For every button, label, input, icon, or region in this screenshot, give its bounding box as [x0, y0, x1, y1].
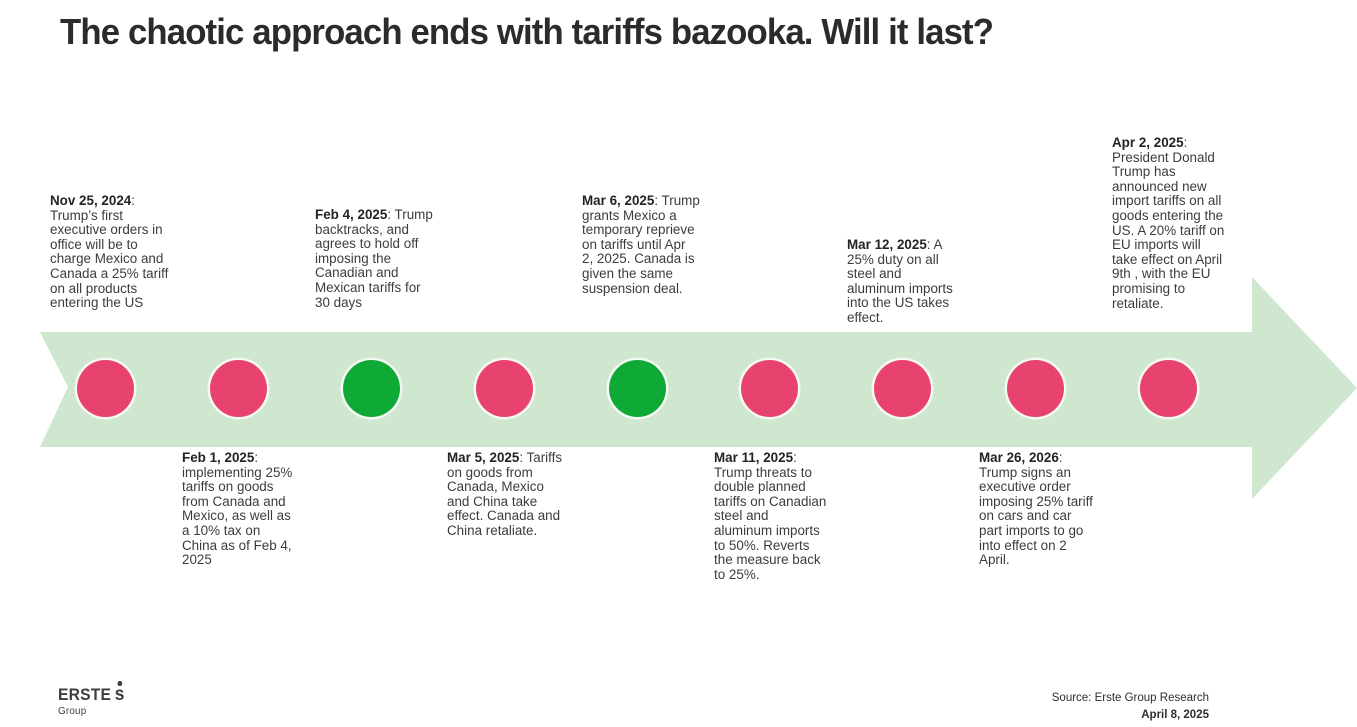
event-mar-26-2026: Mar 26, 2026: Trump signs an executive o… — [979, 451, 1096, 568]
logo-wordmark: ERSTE s — [58, 686, 187, 703]
source-text: Source: Erste Group Research — [1052, 690, 1209, 707]
event-mar-12-2025-date: Mar 12, 2025 — [847, 237, 927, 252]
milestone-dot-1[interactable] — [77, 360, 134, 417]
source-note: Source: Erste Group Research April 8, 20… — [1052, 690, 1209, 724]
event-mar-12-2025: Mar 12, 2025: A 25% duty on all steel an… — [847, 238, 959, 326]
event-mar-6-2025-text: : Trump grants Mexico a temporary reprie… — [582, 193, 700, 296]
event-mar-6-2025: Mar 6, 2025: Trump grants Mexico a tempo… — [582, 194, 700, 296]
event-apr-2-2025-date: Apr 2, 2025 — [1112, 135, 1184, 150]
event-feb-1-2025-text: : implementing 25% tariffs on goods from… — [182, 450, 292, 567]
event-feb-4-2025-date: Feb 4, 2025 — [315, 207, 387, 222]
event-mar-11-2025: Mar 11, 2025: Trump threats to double pl… — [714, 451, 829, 582]
logo-s-dot-icon — [118, 681, 122, 686]
event-feb-4-2025: Feb 4, 2025: Trump backtracks, and agree… — [315, 208, 433, 310]
milestone-dot-6[interactable] — [741, 360, 798, 417]
milestone-dot-3[interactable] — [343, 360, 400, 417]
event-feb-1-2025: Feb 1, 2025: implementing 25% tariffs on… — [182, 451, 297, 568]
event-mar-5-2025: Mar 5, 2025: Tariffs on goods from Canad… — [447, 451, 564, 539]
event-nov-25-2024-text: : Trump’s first executive orders in offi… — [50, 193, 168, 310]
event-apr-2-2025: Apr 2, 2025: President Donald Trump has … — [1112, 136, 1229, 311]
event-feb-4-2025-text: : Trump backtracks, and agrees to hold o… — [315, 207, 433, 310]
logo-s-letter: s — [115, 684, 125, 705]
milestone-dot-7[interactable] — [874, 360, 931, 417]
milestone-dot-9[interactable] — [1140, 360, 1197, 417]
logo-word-erste: ERSTE — [58, 686, 111, 703]
milestone-dot-4[interactable] — [476, 360, 533, 417]
milestone-dot-2[interactable] — [210, 360, 267, 417]
page-title: The chaotic approach ends with tariffs b… — [60, 8, 1305, 56]
event-nov-25-2024-date: Nov 25, 2024 — [50, 193, 131, 208]
event-mar-5-2025-date: Mar 5, 2025 — [447, 450, 519, 465]
event-feb-1-2025-date: Feb 1, 2025 — [182, 450, 254, 465]
event-mar-11-2025-text: : Trump threats to double planned tariff… — [714, 450, 826, 582]
event-mar-11-2025-date: Mar 11, 2025 — [714, 450, 793, 465]
milestone-dot-8[interactable] — [1007, 360, 1064, 417]
event-nov-25-2024: Nov 25, 2024: Trump’s first executive or… — [50, 194, 175, 311]
event-mar-26-2026-date: Mar 26, 2026 — [979, 450, 1059, 465]
event-apr-2-2025-text: : President Donald Trump has announced n… — [1112, 135, 1224, 311]
event-mar-6-2025-date: Mar 6, 2025 — [582, 193, 654, 208]
erste-group-logo: ERSTE s Group — [58, 686, 198, 717]
logo-s-mark: s — [115, 686, 125, 703]
milestone-dot-5[interactable] — [609, 360, 666, 417]
event-mar-26-2026-text: : Trump signs an executive order imposin… — [979, 450, 1093, 567]
logo-subtitle: Group — [58, 705, 190, 717]
source-date: April 8, 2025 — [1052, 707, 1209, 724]
